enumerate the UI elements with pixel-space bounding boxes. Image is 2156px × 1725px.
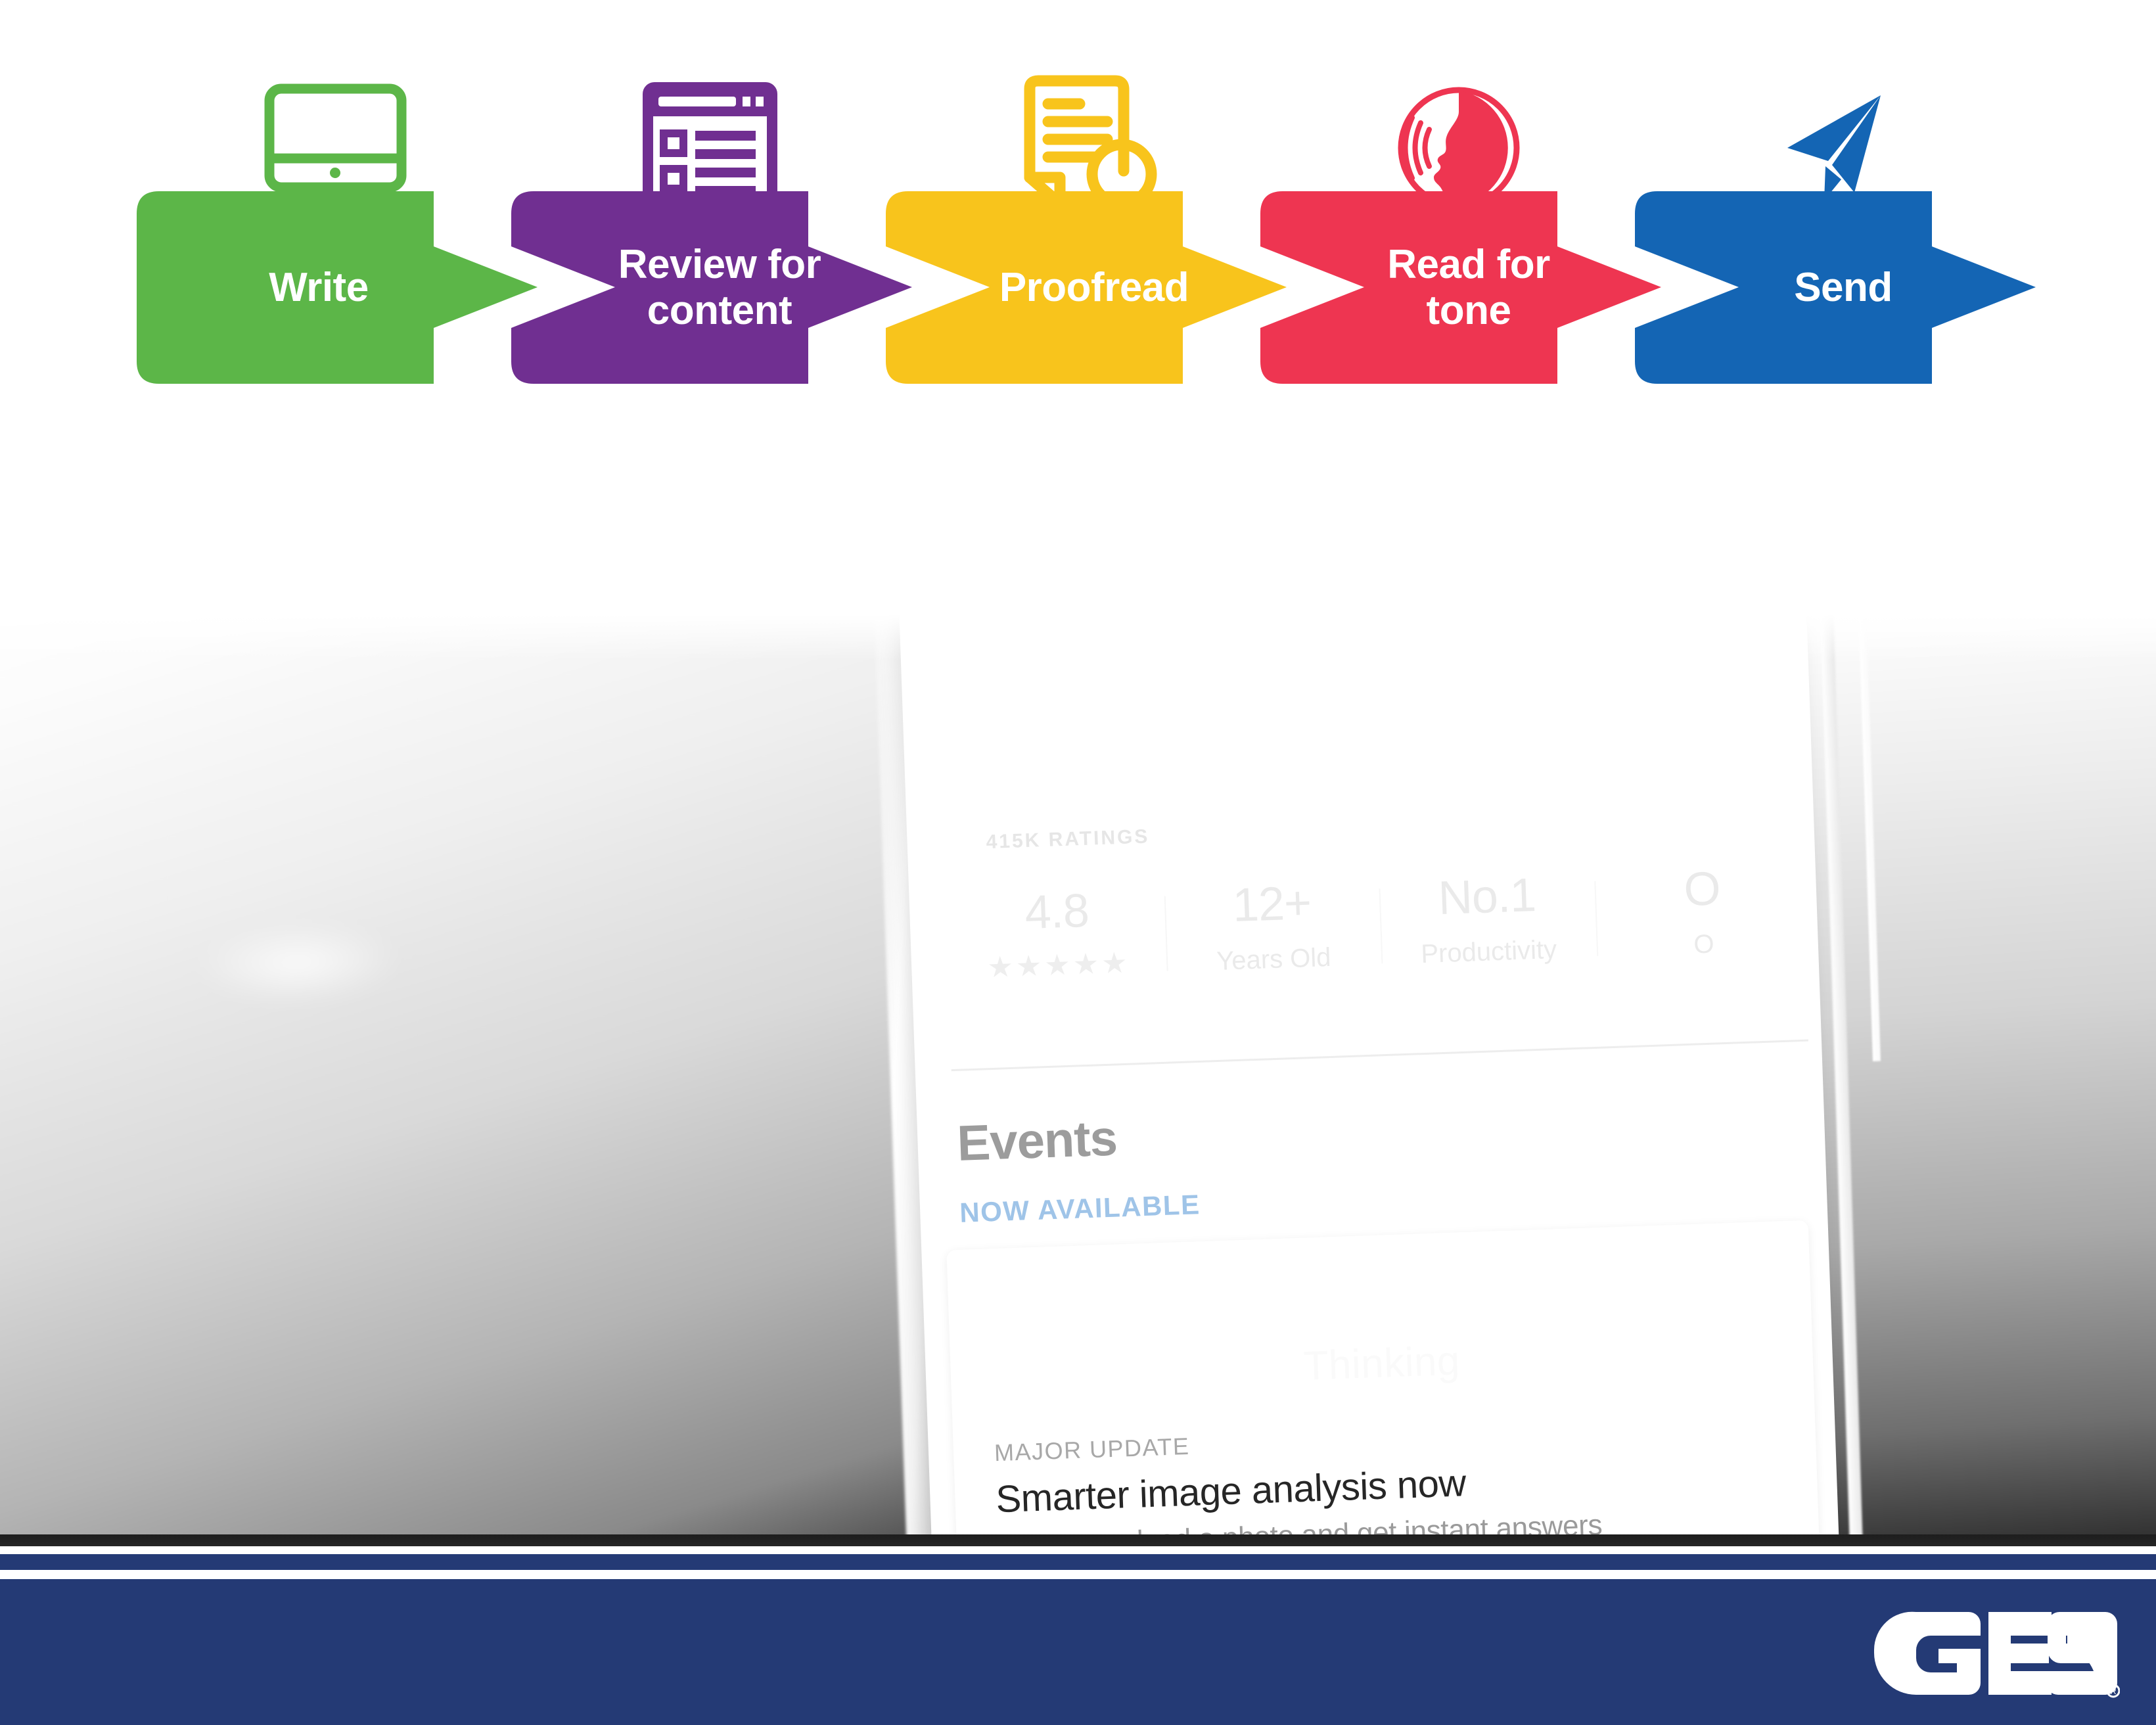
card-title: Smarter image analysis now xyxy=(995,1461,1466,1521)
stat-rating: 4.8 ★★★★★ xyxy=(948,885,1166,986)
app-kicker-now-available: NOW AVAILABLE xyxy=(959,1189,1201,1229)
stat-sub: O xyxy=(1605,927,1803,962)
flow-step-proofread: Proofread xyxy=(874,72,1295,611)
footer-accent-rule xyxy=(0,1554,2156,1570)
stat-age: 12+ Years Old xyxy=(1164,877,1382,977)
footer-dark-strip xyxy=(0,1534,2156,1546)
stat-sub: Years Old xyxy=(1175,942,1373,977)
footer: R xyxy=(0,1534,2156,1725)
flow-block-write[interactable]: Write xyxy=(125,187,545,388)
flow-label-proofread: Proofread xyxy=(874,187,1295,388)
svg-text:R: R xyxy=(2110,1686,2116,1696)
footer-gap-upper xyxy=(0,1546,2156,1554)
process-flow: Write xyxy=(0,72,2156,611)
flow-step-review: Review for content xyxy=(499,72,920,611)
device-photo: 415K RATINGS 4.8 ★★★★★ 12+ Years Old No.… xyxy=(0,614,2156,1534)
stat-value: 4.8 xyxy=(957,885,1156,938)
flow-step-write: Write xyxy=(125,72,545,611)
stat-sub: Productivity xyxy=(1390,934,1588,969)
card-eyebrow-major-update: MAJOR UPDATE xyxy=(994,1433,1190,1467)
slide-canvas: Write xyxy=(0,0,2156,1725)
stat-extra: O O xyxy=(1594,862,1812,962)
flow-label-send: Send xyxy=(1623,187,2044,388)
app-divider xyxy=(952,1040,1808,1072)
app-event-card[interactable]: Thinking MAJOR UPDATE Smarter image anal… xyxy=(946,1220,1820,1534)
flow-block-review[interactable]: Review for content xyxy=(499,187,920,388)
flow-step-read-tone: Read for tone xyxy=(1249,72,1669,611)
flow-block-proofread[interactable]: Proofread xyxy=(874,187,1295,388)
flow-block-send[interactable]: Send xyxy=(1623,187,2044,388)
flow-label-review: Review for content xyxy=(499,187,920,388)
app-stats-row: 4.8 ★★★★★ 12+ Years Old No.1 Productivit… xyxy=(909,862,1818,987)
stat-value: No.1 xyxy=(1388,869,1586,923)
stat-value: 12+ xyxy=(1173,877,1371,931)
flow-block-read-tone[interactable]: Read for tone xyxy=(1249,187,1669,388)
flow-label-write: Write xyxy=(125,187,545,388)
flow-label-read-tone: Read for tone xyxy=(1249,187,1669,388)
ges-logo: R xyxy=(1870,1608,2120,1700)
footer-gap-lower xyxy=(0,1570,2156,1579)
card-thinking-label: Thinking xyxy=(950,1325,1814,1402)
flow-step-send: Send xyxy=(1623,72,2044,611)
app-section-title-events: Events xyxy=(956,1109,1118,1172)
stat-value: O xyxy=(1603,862,1801,916)
stat-rank: No.1 Productivity xyxy=(1379,869,1597,970)
phone-screen: 415K RATINGS 4.8 ★★★★★ 12+ Years Old No.… xyxy=(897,614,1841,1534)
footer-brand-band xyxy=(0,1579,2156,1725)
app-ratings-label: 415K RATINGS xyxy=(986,825,1150,854)
rating-stars-icon: ★★★★★ xyxy=(959,945,1157,985)
